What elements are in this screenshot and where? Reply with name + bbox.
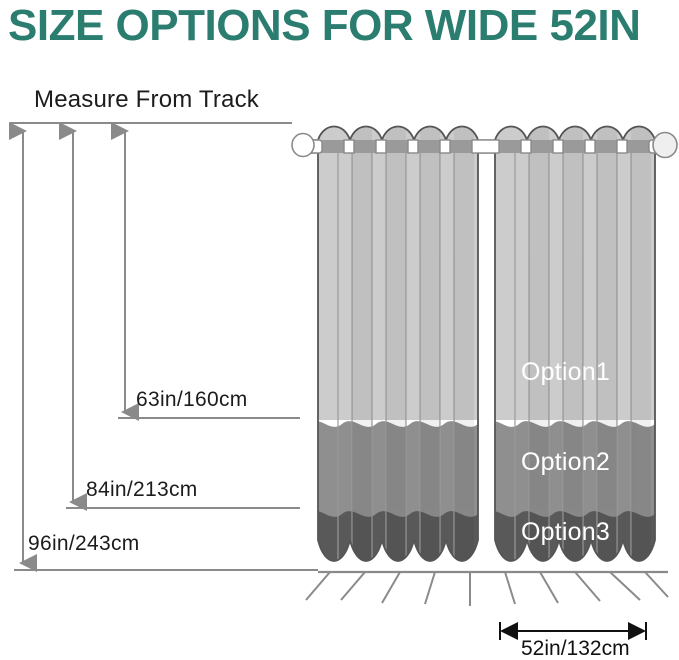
option-label-3: Option3	[521, 518, 610, 547]
floor-hatching	[306, 572, 668, 606]
page-title: SIZE OPTIONS FOR WIDE 52IN	[8, 0, 678, 54]
dimension-label-width-52in: 52in/132cm	[521, 637, 630, 660]
curtain-panel-left-outline	[318, 127, 478, 562]
rod-finial-left-icon	[292, 134, 314, 157]
curtain-rod-segments	[300, 140, 669, 153]
option-label-2: Option2	[521, 448, 610, 477]
grommet-band-left	[320, 140, 474, 153]
dimension-label-63in: 63in/160cm	[136, 388, 248, 412]
size-options-diagram: SIZE OPTIONS FOR WIDE 52IN Measure From …	[0, 0, 679, 660]
grommet-band-right	[497, 140, 651, 153]
option-label-1: Option1	[521, 358, 610, 387]
measure-from-track-label: Measure From Track	[34, 86, 259, 114]
curtain-panel-right-outline	[495, 127, 655, 562]
curtain-panel-right	[487, 110, 668, 580]
rod-finial-right-icon	[653, 133, 677, 158]
curtain-rod	[300, 140, 666, 153]
dimension-label-84in: 84in/213cm	[86, 478, 198, 502]
curtain-panel-left	[310, 110, 492, 580]
dimension-label-96in: 96in/243cm	[28, 532, 140, 556]
